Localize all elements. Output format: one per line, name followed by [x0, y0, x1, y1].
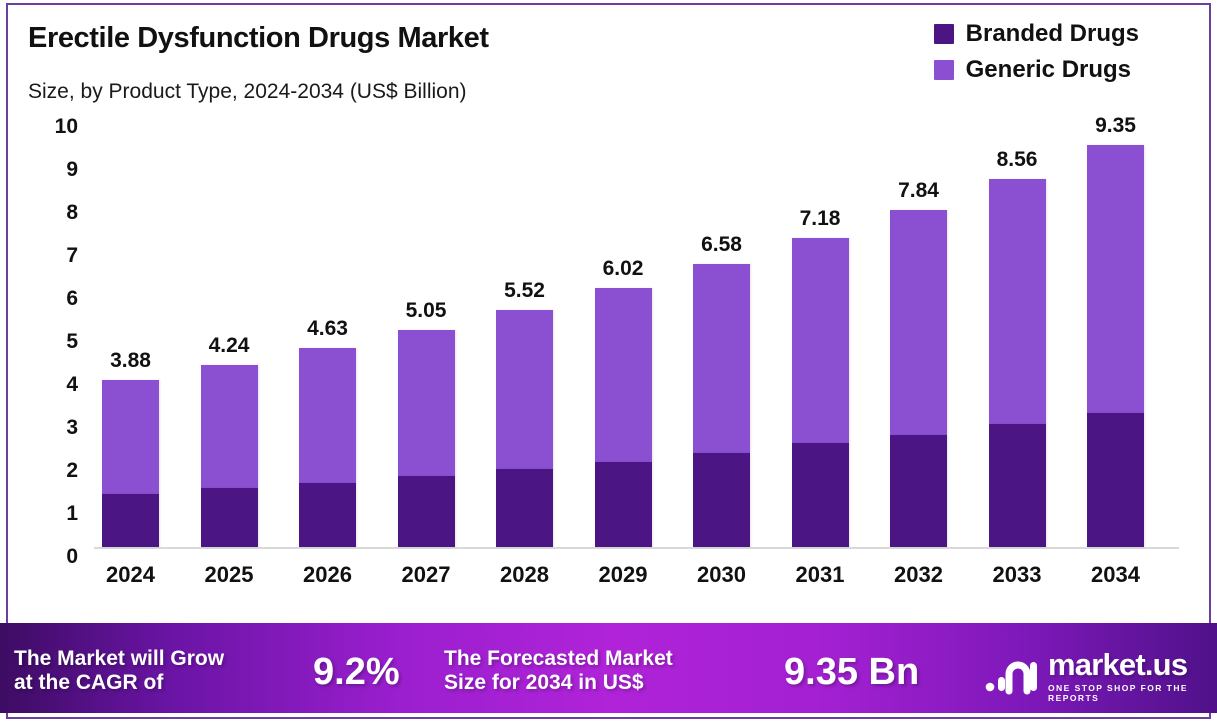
bar-segment-generic[interactable]: [1087, 145, 1144, 413]
cagr-value: 9.2%: [313, 651, 400, 695]
bar-segment-branded[interactable]: [496, 469, 553, 547]
y-axis: 109876543210: [28, 118, 90, 558]
logo-wordmark: market.us: [1048, 649, 1217, 680]
bar-segment-generic[interactable]: [299, 348, 356, 483]
bar-segment-generic[interactable]: [102, 380, 159, 494]
chart-infographic: Erectile Dysfunction Drugs Market Size, …: [0, 0, 1217, 722]
y-axis-tick: 8: [66, 201, 78, 225]
bar-segment-generic[interactable]: [890, 210, 947, 435]
bar-group[interactable]: 3.88: [102, 380, 159, 547]
bar-total-label: 6.02: [603, 257, 644, 281]
y-axis-tick: 7: [66, 244, 78, 268]
x-axis-tick: 2030: [693, 562, 750, 588]
cagr-label-line2: at the CAGR of: [14, 671, 224, 695]
bar-total-label: 5.52: [504, 279, 545, 303]
summary-banner: The Market will Grow at the CAGR of 9.2%…: [0, 623, 1217, 713]
bar-total-label: 4.24: [209, 334, 250, 358]
y-axis-tick: 10: [55, 115, 78, 139]
y-axis-tick: 3: [66, 416, 78, 440]
bar-segment-branded[interactable]: [890, 435, 947, 547]
x-axis-tick: 2031: [792, 562, 849, 588]
axis-baseline: [94, 547, 1179, 549]
logo-text: market.us ONE STOP SHOP FOR THE REPORTS: [1048, 649, 1217, 703]
bar-segment-branded[interactable]: [398, 476, 455, 547]
bar-total-label: 5.05: [406, 299, 447, 323]
legend-swatch-icon: [934, 60, 954, 80]
y-axis-tick: 2: [66, 459, 78, 483]
bar-total-label: 9.35: [1095, 114, 1136, 138]
y-axis-tick: 0: [66, 545, 78, 569]
y-axis-tick: 1: [66, 502, 78, 526]
x-axis-tick: 2029: [595, 562, 652, 588]
x-axis-tick: 2028: [496, 562, 553, 588]
bars-area: 3.884.244.635.055.526.026.587.187.848.56…: [94, 118, 1183, 558]
y-axis-tick: 5: [66, 330, 78, 354]
bar-group[interactable]: 7.84: [890, 210, 947, 547]
bar-segment-branded[interactable]: [299, 483, 356, 548]
bar-total-label: 3.88: [110, 349, 151, 373]
market-us-logo[interactable]: market.us ONE STOP SHOP FOR THE REPORTS: [985, 649, 1217, 703]
forecast-label-line2: Size for 2034 in US$: [444, 671, 673, 695]
bar-segment-generic[interactable]: [792, 238, 849, 443]
bar-segment-generic[interactable]: [693, 264, 750, 453]
x-axis-tick: 2032: [890, 562, 947, 588]
bar-segment-branded[interactable]: [693, 453, 750, 547]
bar-segment-generic[interactable]: [595, 288, 652, 462]
bar-segment-branded[interactable]: [595, 462, 652, 547]
bar-segment-branded[interactable]: [1087, 413, 1144, 547]
bar-group[interactable]: 6.02: [595, 288, 652, 547]
bar-segment-branded[interactable]: [792, 443, 849, 547]
legend-swatch-icon: [934, 24, 954, 44]
bar-group[interactable]: 4.24: [201, 365, 258, 547]
page-title: Erectile Dysfunction Drugs Market: [28, 22, 489, 55]
bar-segment-generic[interactable]: [398, 330, 455, 476]
x-axis-tick: 2033: [989, 562, 1046, 588]
bar-group[interactable]: 9.35: [1087, 145, 1144, 547]
plot-area: 109876543210 3.884.244.635.055.526.026.5…: [28, 118, 1183, 558]
cagr-label: The Market will Grow at the CAGR of: [14, 647, 224, 695]
bar-group[interactable]: 4.63: [299, 348, 356, 547]
bar-segment-generic[interactable]: [201, 365, 258, 488]
bar-segment-branded[interactable]: [989, 424, 1046, 547]
legend-item[interactable]: Branded Drugs: [934, 20, 1139, 48]
market-us-logomark-icon: [985, 657, 1039, 695]
y-axis-tick: 9: [66, 158, 78, 182]
bar-total-label: 7.18: [800, 207, 841, 231]
x-axis-tick: 2026: [299, 562, 356, 588]
legend-label: Generic Drugs: [966, 56, 1131, 84]
logo-tagline: ONE STOP SHOP FOR THE REPORTS: [1048, 683, 1217, 703]
forecast-value: 9.35 Bn: [784, 651, 919, 695]
bar-group[interactable]: 6.58: [693, 264, 750, 547]
x-axis: 2024202520262027202820292030203120322033…: [94, 562, 1183, 596]
x-axis-tick: 2034: [1087, 562, 1144, 588]
bar-total-label: 8.56: [997, 148, 1038, 172]
y-axis-tick: 6: [66, 287, 78, 311]
bar-group[interactable]: 5.05: [398, 330, 455, 547]
bar-segment-branded[interactable]: [201, 488, 258, 547]
bar-total-label: 6.58: [701, 233, 742, 257]
bar-segment-branded[interactable]: [102, 494, 159, 547]
bar-segment-generic[interactable]: [496, 310, 553, 469]
bar-group[interactable]: 7.18: [792, 238, 849, 547]
forecast-label: The Forecasted Market Size for 2034 in U…: [444, 647, 673, 695]
page-subtitle: Size, by Product Type, 2024-2034 (US$ Bi…: [28, 80, 467, 104]
bar-total-label: 4.63: [307, 317, 348, 341]
bar-group[interactable]: 8.56: [989, 179, 1046, 547]
forecast-label-line1: The Forecasted Market: [444, 647, 673, 671]
chart-legend: Branded DrugsGeneric Drugs: [934, 20, 1139, 84]
cagr-label-line1: The Market will Grow: [14, 647, 224, 671]
x-axis-tick: 2024: [102, 562, 159, 588]
y-axis-tick: 4: [66, 373, 78, 397]
bar-group[interactable]: 5.52: [496, 310, 553, 547]
legend-label: Branded Drugs: [966, 20, 1139, 48]
bar-segment-generic[interactable]: [989, 179, 1046, 425]
bar-total-label: 7.84: [898, 179, 939, 203]
x-axis-tick: 2025: [201, 562, 258, 588]
x-axis-tick: 2027: [398, 562, 455, 588]
legend-item[interactable]: Generic Drugs: [934, 56, 1139, 84]
